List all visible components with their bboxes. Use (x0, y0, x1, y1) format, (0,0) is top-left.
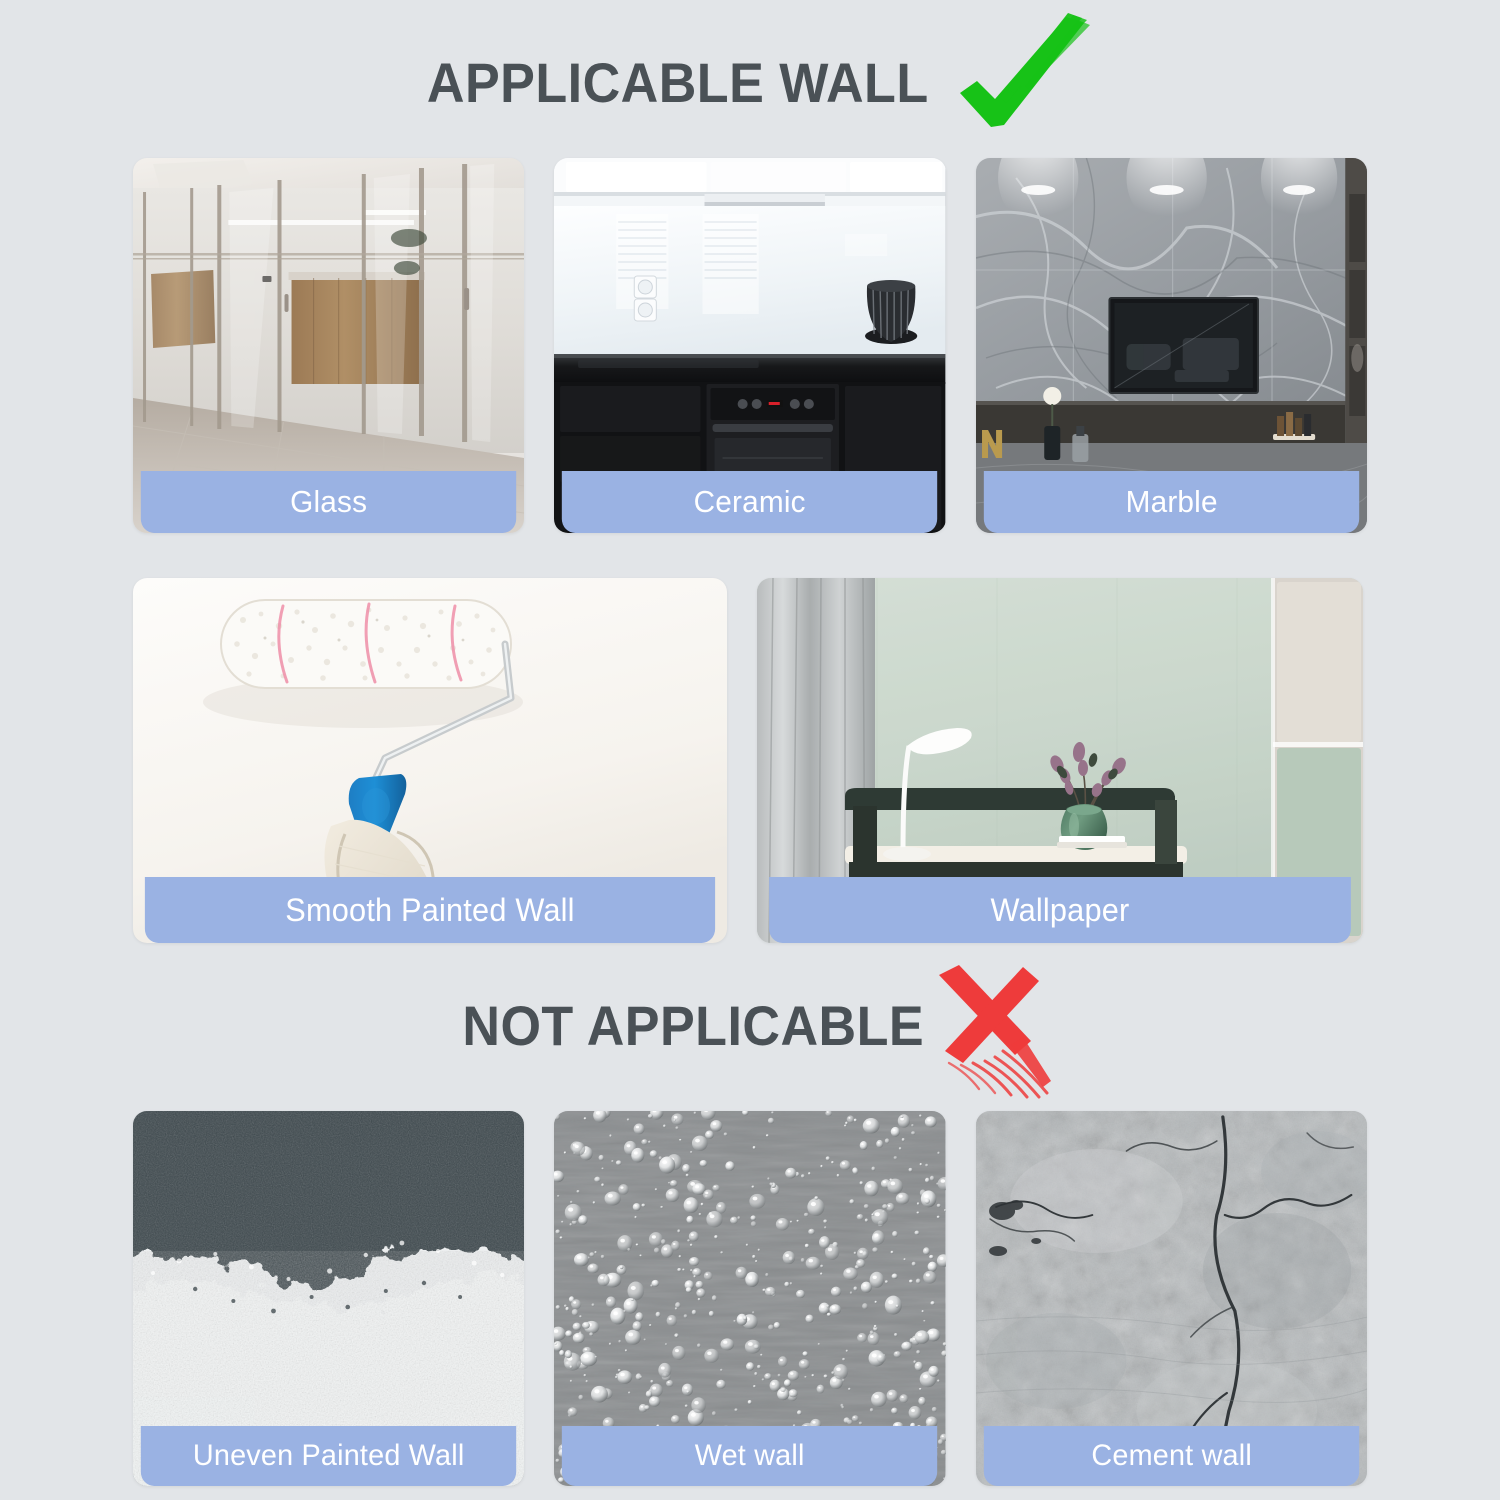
applicable-row-1: Glass (0, 158, 1500, 533)
not-applicable-section-heading: NOT APPLICABLE (0, 951, 1500, 1101)
applicable-row-2: Smooth Painted Wall (0, 578, 1500, 943)
material-card-wallpaper[interactable]: Wallpaper (757, 578, 1363, 943)
card-caption: Wallpaper (769, 877, 1351, 943)
red-cross-icon (915, 959, 1055, 1099)
green-check-icon (942, 11, 1092, 141)
material-card-ceramic[interactable]: Ceramic (554, 158, 945, 533)
card-caption: Marble (983, 471, 1359, 533)
card-caption: Cement wall (983, 1426, 1359, 1486)
material-card-wet-wall[interactable]: Wet wall (554, 1111, 945, 1486)
material-card-smooth-painted-wall[interactable]: Smooth Painted Wall (133, 578, 727, 943)
card-caption: Uneven Painted Wall (141, 1426, 517, 1486)
card-caption: Glass (141, 471, 517, 533)
applicable-section-heading: APPLICABLE WALL (0, 0, 1500, 158)
material-card-uneven-painted-wall[interactable]: Uneven Painted Wall (133, 1111, 524, 1486)
page-subtitle: NOT APPLICABLE (462, 998, 924, 1054)
material-card-glass[interactable]: Glass (133, 158, 524, 533)
material-card-cement-wall[interactable]: Cement wall (976, 1111, 1367, 1486)
material-card-marble[interactable]: Marble (976, 158, 1367, 533)
card-caption: Wet wall (562, 1426, 938, 1486)
card-caption: Smooth Painted Wall (145, 877, 715, 943)
not-applicable-row-1: Uneven Painted Wall (0, 1111, 1500, 1486)
page-title: APPLICABLE WALL (427, 55, 929, 111)
card-caption: Ceramic (562, 471, 938, 533)
